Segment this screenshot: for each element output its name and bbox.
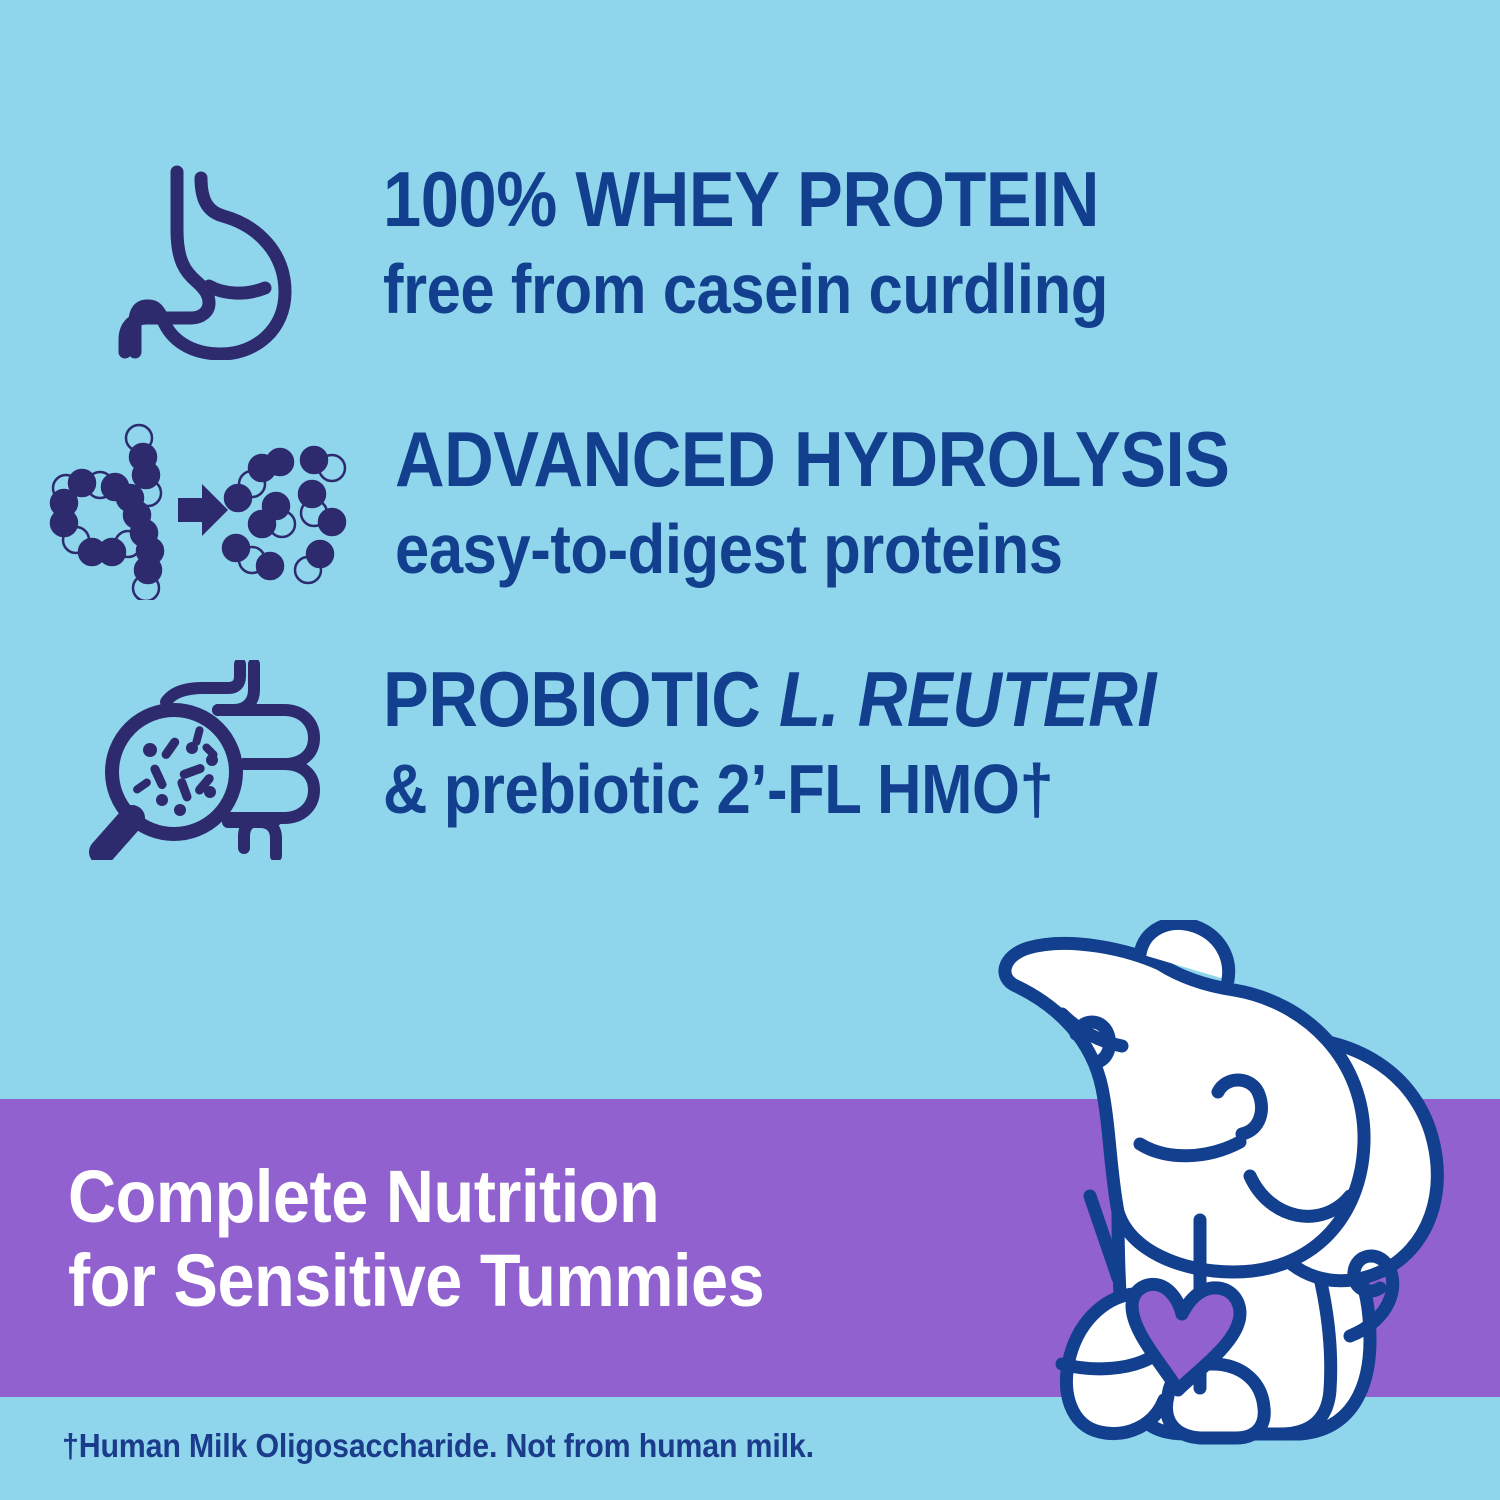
feature-3-text: PROBIOTIC L. REUTERI & prebiotic 2’-FL H… (383, 660, 1261, 824)
feature-row-probiotic: PROBIOTIC L. REUTERI & prebiotic 2’-FL H… (78, 660, 1261, 824)
hydrolysis-molecule-icon (40, 420, 370, 600)
arrow-right-icon (178, 484, 228, 536)
feature-row-whey-protein: 100% WHEY PROTEIN free from casein curdl… (105, 160, 1207, 324)
product-feature-panel: 100% WHEY PROTEIN free from casein curdl… (0, 0, 1500, 1500)
feature-3-headline-species: L. REUTERI (779, 655, 1156, 743)
feature-2-headline: ADVANCED HYDROLYSIS (395, 420, 1230, 498)
banner-line-1: Complete Nutrition (68, 1155, 764, 1239)
stomach-icon (105, 160, 343, 360)
baby-elephant-illustration (950, 920, 1500, 1480)
feature-1-subline: free from casein curdling (383, 254, 1108, 324)
banner-line-2: for Sensitive Tummies (68, 1239, 764, 1323)
banner-headline: Complete Nutrition for Sensitive Tummies (68, 1155, 764, 1324)
feature-2-subline: easy-to-digest proteins (395, 514, 1230, 584)
feature-row-advanced-hydrolysis: ADVANCED HYDROLYSIS easy-to-digest prote… (40, 420, 1343, 584)
feature-2-text: ADVANCED HYDROLYSIS easy-to-digest prote… (395, 420, 1343, 584)
feature-3-headline-prefix: PROBIOTIC (383, 655, 779, 743)
feature-1-headline: 100% WHEY PROTEIN (383, 160, 1108, 238)
magnifier-gut-bacteria-icon (78, 660, 340, 860)
footnote-text: †Human Milk Oligosaccharide. Not from hu… (62, 1427, 814, 1465)
feature-3-subline: & prebiotic 2’-FL HMO† (383, 754, 1156, 824)
feature-1-text: 100% WHEY PROTEIN free from casein curdl… (383, 160, 1207, 324)
feature-3-headline: PROBIOTIC L. REUTERI (383, 660, 1156, 738)
